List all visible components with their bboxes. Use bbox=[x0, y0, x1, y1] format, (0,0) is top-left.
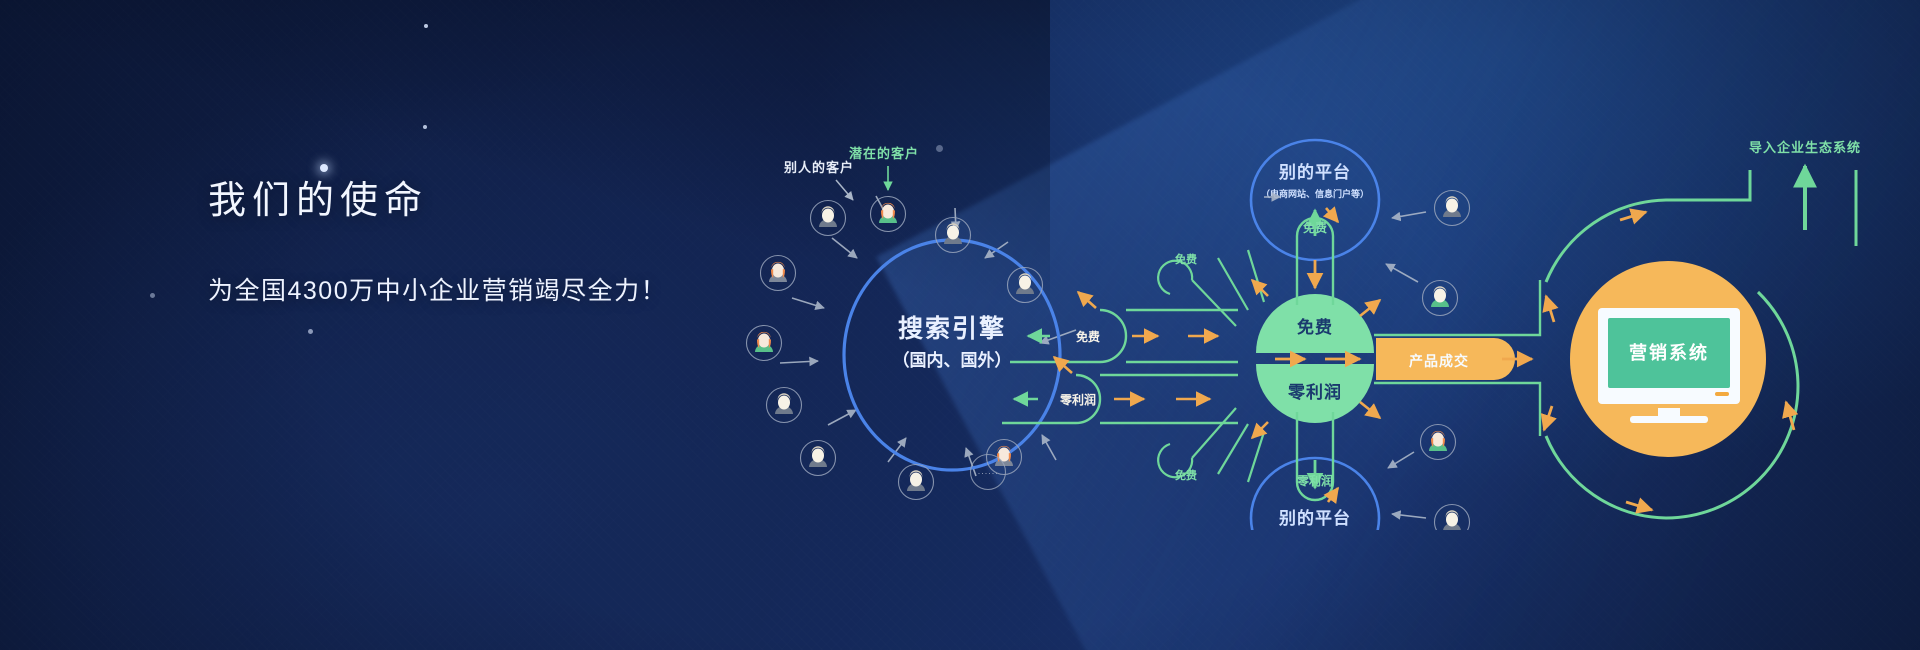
search-engine-title: 搜索引擎 bbox=[898, 315, 1006, 343]
deal-label: 产品成交 bbox=[1409, 353, 1469, 369]
page-title: 我们的使命 bbox=[208, 176, 667, 227]
platform-top-title: 别的平台 bbox=[1278, 162, 1351, 182]
platform-bottom-flow-label: 零利润 bbox=[1296, 473, 1333, 488]
page-subtitle: 为全国4300万中小企业营销竭尽全力！ bbox=[208, 271, 667, 307]
customer-avatar bbox=[899, 465, 934, 500]
label-potential-customers: 潜在的客户 bbox=[849, 146, 919, 161]
sparkle-dot bbox=[424, 24, 428, 28]
hub-node: 免费 零利润 bbox=[1256, 294, 1374, 423]
marketing-system-label: 营销系统 bbox=[1629, 342, 1709, 363]
marketing-ecosystem-diagram: 搜索引擎 （国内、国外） 别人的客户 潜在的客户 ······ bbox=[740, 130, 1920, 530]
customer-avatar bbox=[1435, 191, 1470, 226]
search-engine-subtitle: （国内、国外） bbox=[893, 350, 1012, 370]
customer-avatar bbox=[811, 201, 846, 236]
hub-label-free: 免费 bbox=[1297, 317, 1333, 337]
customer-avatar bbox=[761, 256, 796, 291]
branch-label-free: 免费 bbox=[1175, 468, 1197, 482]
hub-branch-lines bbox=[1192, 250, 1264, 482]
flow-label-zero-profit: 零利润 bbox=[1059, 392, 1096, 407]
customer-avatar bbox=[936, 218, 971, 253]
customer-avatar bbox=[767, 388, 802, 423]
flow-platform-top: 免费 bbox=[1297, 208, 1338, 305]
branch-label-free: 免费 bbox=[1175, 252, 1197, 266]
sparkle-dot bbox=[320, 164, 328, 172]
customer-avatar bbox=[747, 326, 782, 361]
hub-label-zero-profit: 零利润 bbox=[1287, 382, 1342, 402]
hub-branch-free-top: 免费 bbox=[1158, 252, 1197, 294]
flow-search-zero-profit: 零利润 bbox=[1002, 357, 1238, 423]
sparkle-dot bbox=[150, 293, 155, 298]
ellipsis-node: ······ bbox=[971, 455, 1006, 490]
import-ecosystem-label: 导入企业生态系统 bbox=[1749, 140, 1861, 155]
hero-banner: 我们的使命 为全国4300万中小企业营销竭尽全力！ bbox=[0, 0, 1920, 650]
deal-node: 产品成交 bbox=[1376, 338, 1515, 380]
flow-label-free: 免费 bbox=[1076, 329, 1100, 344]
platform-top-node: 别的平台 （电商网站、信息门户等） bbox=[1251, 140, 1379, 260]
sparkle-dot bbox=[308, 329, 313, 334]
platform-bottom-title: 别的平台 bbox=[1278, 508, 1351, 528]
platform-top-flow-label: 免费 bbox=[1303, 220, 1327, 235]
hub-branch-free-bottom: 免费 bbox=[1158, 444, 1197, 482]
hero-copy: 我们的使命 为全国4300万中小企业营销竭尽全力！ bbox=[208, 176, 667, 307]
customer-avatar bbox=[871, 197, 906, 232]
label-others-customers: 别人的客户 bbox=[783, 160, 854, 175]
sparkle-dot bbox=[423, 125, 427, 129]
customer-avatar bbox=[1421, 425, 1456, 460]
customer-avatar bbox=[801, 441, 836, 476]
customer-avatar bbox=[1423, 281, 1458, 316]
flow-search-free: 免费 bbox=[1010, 292, 1238, 362]
ellipsis-label: ······ bbox=[978, 468, 999, 478]
customer-avatar bbox=[1435, 505, 1470, 531]
label-pointer-others bbox=[836, 180, 853, 200]
